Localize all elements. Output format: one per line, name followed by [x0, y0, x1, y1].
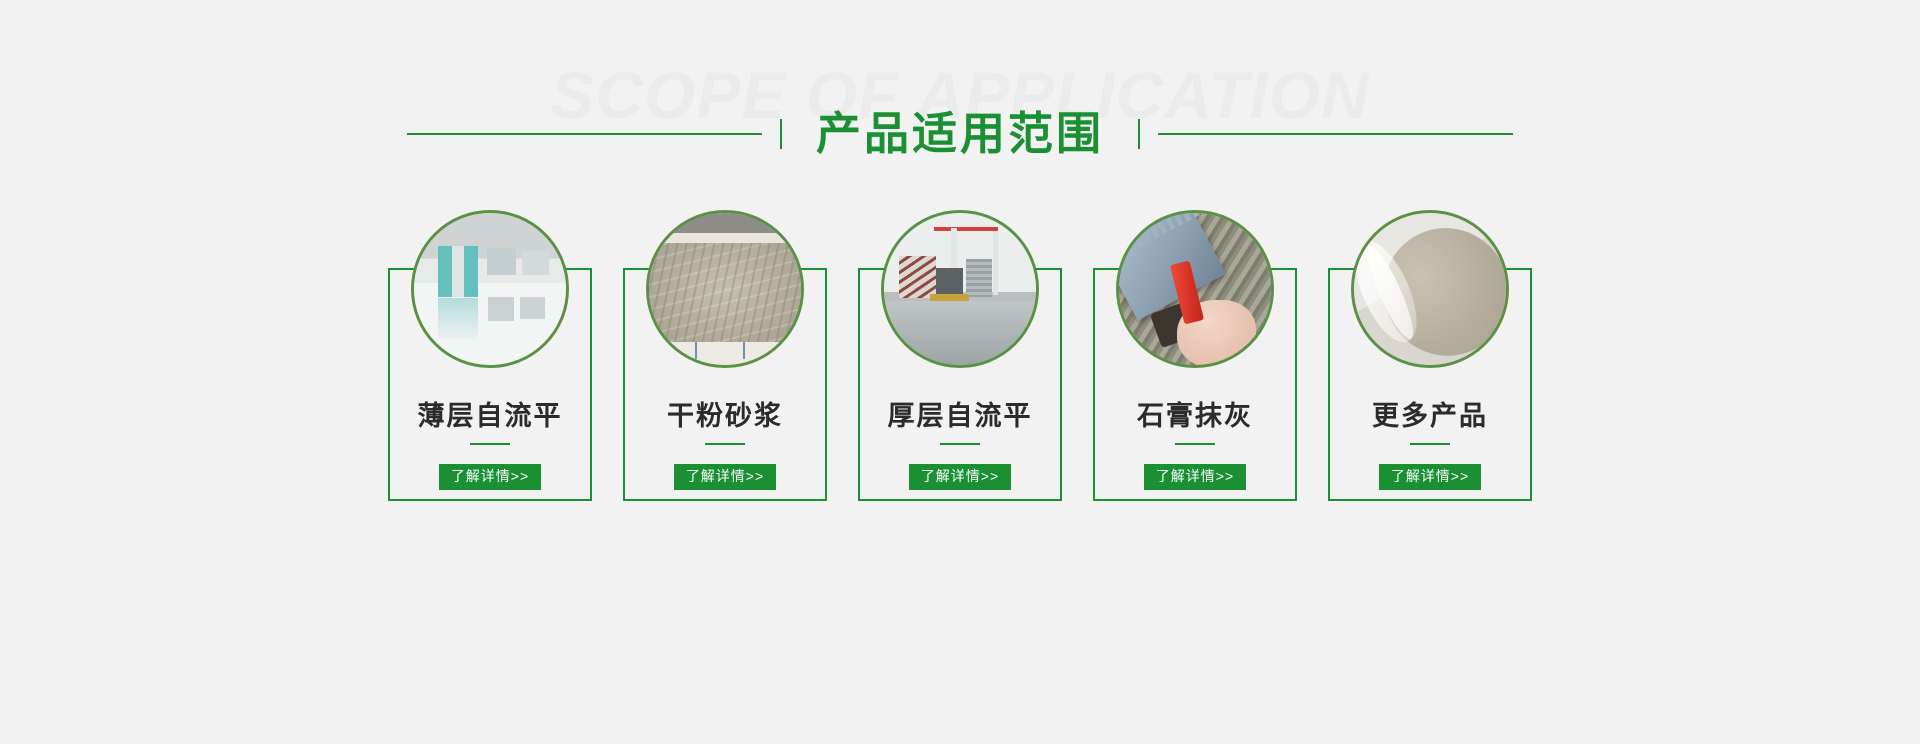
product-card-more-products[interactable]: 更多产品 了解详情>>: [1328, 210, 1532, 490]
card-title: 更多产品: [1328, 402, 1532, 432]
card-title-underline: [705, 443, 745, 445]
card-title: 薄层自流平: [388, 402, 592, 432]
card-title-underline: [940, 443, 980, 445]
learn-more-button[interactable]: 了解详情>>: [439, 464, 541, 490]
product-image-thick-layer-self-leveling: [881, 210, 1039, 368]
scope-of-application-section: SCOPE OF APPLICATION 产品适用范围 薄层自流平: [0, 0, 1920, 744]
product-card-thick-layer-self-leveling[interactable]: 厚层自流平 了解详情>>: [858, 210, 1062, 490]
learn-more-button[interactable]: 了解详情>>: [1144, 464, 1246, 490]
section-header: SCOPE OF APPLICATION 产品适用范围: [0, 62, 1920, 172]
page-title: 产品适用范围: [782, 108, 1138, 160]
product-card-thin-layer-self-leveling[interactable]: 薄层自流平 了解详情>>: [388, 210, 592, 490]
card-title-underline: [1410, 443, 1450, 445]
product-image-dry-powder-mortar: [646, 210, 804, 368]
card-title-underline: [1175, 443, 1215, 445]
card-title-underline: [470, 443, 510, 445]
learn-more-button[interactable]: 了解详情>>: [674, 464, 776, 490]
product-image-thin-layer-self-leveling: [411, 210, 569, 368]
header-rule-right: [1158, 133, 1513, 135]
header-rule-left: [407, 133, 762, 135]
product-image-gypsum-plastering: [1116, 210, 1274, 368]
product-card-list: 薄层自流平 了解详情>> 干粉砂浆 了解详情>>: [0, 210, 1920, 490]
product-card-gypsum-plastering[interactable]: 石膏抹灰 了解详情>>: [1093, 210, 1297, 490]
card-title: 干粉砂浆: [623, 402, 827, 432]
product-image-more-products: [1351, 210, 1509, 368]
card-title: 厚层自流平: [858, 402, 1062, 432]
product-card-dry-powder-mortar[interactable]: 干粉砂浆 了解详情>>: [623, 210, 827, 490]
header-tick-right: [1138, 119, 1140, 149]
learn-more-button[interactable]: 了解详情>>: [1379, 464, 1481, 490]
learn-more-button[interactable]: 了解详情>>: [909, 464, 1011, 490]
title-row: 产品适用范围: [0, 108, 1920, 160]
card-title: 石膏抹灰: [1093, 402, 1297, 432]
